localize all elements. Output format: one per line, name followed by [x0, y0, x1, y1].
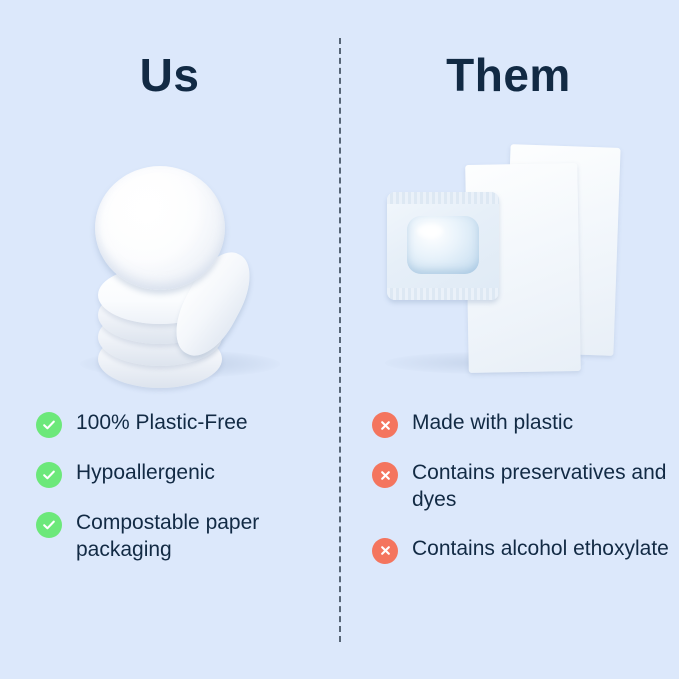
sachet-crimp-top	[387, 192, 499, 204]
tablet-face-on	[95, 166, 225, 290]
comparison-graphic: Us Them 100% Plastic-Free	[0, 0, 679, 679]
illustration-us	[0, 130, 339, 395]
column-heading-them: Them	[339, 48, 678, 102]
list-item: Hypoallergenic	[36, 460, 336, 488]
list-item-label: 100% Plastic-Free	[76, 410, 248, 437]
illustration-them	[339, 130, 678, 395]
sachet-crimp-bottom	[387, 288, 499, 300]
check-icon	[36, 412, 62, 438]
check-icon	[36, 512, 62, 538]
bullet-list-them: Made with plastic Contains preservatives…	[372, 410, 672, 586]
liquid-pod	[407, 216, 479, 274]
list-item: 100% Plastic-Free	[36, 410, 336, 438]
bullet-list-us: 100% Plastic-Free Hypoallergenic Compost…	[36, 410, 336, 586]
list-item-label: Made with plastic	[412, 410, 573, 437]
check-icon	[36, 462, 62, 488]
list-item: Compostable paper packaging	[36, 510, 336, 564]
list-item-label: Contains preservatives and dyes	[412, 460, 672, 514]
cross-icon	[372, 538, 398, 564]
list-item: Made with plastic	[372, 410, 672, 438]
list-item: Contains alcohol ethoxylate	[372, 536, 672, 564]
list-item-label: Hypoallergenic	[76, 460, 215, 487]
column-heading-us: Us	[0, 48, 339, 102]
cross-icon	[372, 462, 398, 488]
list-item: Contains preservatives and dyes	[372, 460, 672, 514]
cross-icon	[372, 412, 398, 438]
plastic-sachet	[387, 192, 499, 300]
list-item-label: Contains alcohol ethoxylate	[412, 536, 669, 563]
list-item-label: Compostable paper packaging	[76, 510, 336, 564]
